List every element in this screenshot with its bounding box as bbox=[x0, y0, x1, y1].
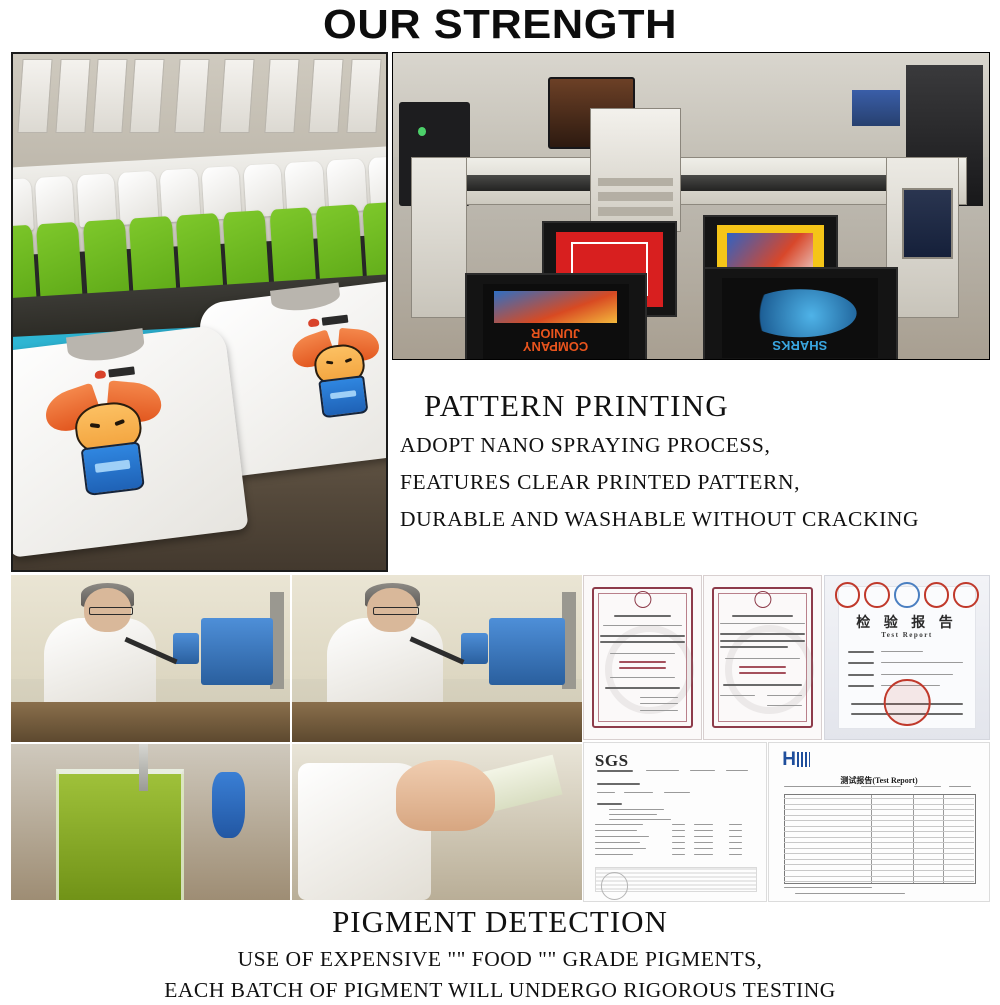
lab-technician-photo bbox=[11, 575, 290, 742]
sharks-print-text: SHARKS bbox=[731, 338, 869, 353]
certification-logos bbox=[835, 584, 979, 605]
lab-bench bbox=[292, 702, 582, 742]
h-test-report: H 测试报告(Test Report) bbox=[768, 742, 990, 902]
pattern-printing-heading: PATTERN PRINTING bbox=[400, 385, 990, 427]
pigment-detection-line-2: EACH BATCH OF PIGMENT WILL UNDERGO RIGOR… bbox=[0, 975, 1000, 1005]
cert-logo-icon-4 bbox=[953, 582, 979, 608]
lab-bench bbox=[11, 702, 290, 742]
glasses-icon bbox=[89, 607, 133, 616]
sgs-test-report: SGS bbox=[583, 742, 767, 902]
test-strip-photo bbox=[292, 744, 582, 900]
lab-equipment bbox=[201, 618, 274, 685]
brand-logo-small bbox=[94, 366, 135, 379]
pattern-printing-line-2: FEATURES CLEAR PRINTED PATTERN, bbox=[400, 464, 990, 501]
cert-logo-icon-2 bbox=[894, 582, 920, 608]
pigment-detection-text-block: PIGMENT DETECTION USE OF EXPENSIVE "" FO… bbox=[0, 900, 1000, 1005]
beaker bbox=[56, 769, 185, 900]
background-equipment bbox=[212, 772, 245, 838]
junior-company-line-1: COMPANY bbox=[491, 340, 620, 353]
hand bbox=[396, 760, 495, 832]
certificate-of-approval bbox=[703, 575, 822, 740]
cert-logo-icon-3 bbox=[924, 582, 950, 608]
pattern-printing-line-3: DURABLE AND WASHABLE WITHOUT CRACKING bbox=[400, 501, 990, 538]
h-report-title: 测试报告(Test Report) bbox=[769, 775, 989, 786]
t-shirt-printing-conveyor-photo bbox=[11, 52, 388, 572]
certificate-chinese bbox=[583, 575, 702, 740]
stirring-rod bbox=[139, 744, 147, 791]
pigment-detection-heading: PIGMENT DETECTION bbox=[0, 900, 1000, 944]
page-title-text: OUR STRENGTH bbox=[323, 1, 677, 48]
brand-logo-small bbox=[308, 315, 349, 328]
bull-mascot-print bbox=[301, 330, 375, 418]
sgs-stamp bbox=[595, 867, 757, 891]
dtg-flatbed-printer-photo: COMPANY JUNIOR SHARKS bbox=[392, 52, 990, 360]
pallet-junior-company-shirt: COMPANY JUNIOR bbox=[465, 273, 648, 360]
pallet-sharks-shirt: SHARKS bbox=[703, 267, 898, 360]
inspection-test-report: 检 验 报 告 Test Report bbox=[824, 575, 990, 740]
bull-mascot-print bbox=[59, 384, 157, 497]
ccc-logo-icon bbox=[835, 582, 861, 608]
print-pallet-front bbox=[11, 324, 248, 558]
report-title-en: Test Report bbox=[825, 631, 989, 639]
glasses-icon bbox=[373, 607, 419, 616]
sgs-results-table bbox=[595, 822, 755, 858]
supply-box bbox=[852, 90, 900, 127]
printer-rail bbox=[429, 175, 953, 190]
report-title-cn: 检 验 报 告 bbox=[825, 612, 989, 632]
cert-logo-icon bbox=[864, 582, 890, 608]
pattern-printing-text-block: PATTERN PRINTING ADOPT NANO SPRAYING PRO… bbox=[400, 385, 990, 538]
official-stamp bbox=[884, 679, 931, 726]
green-pigment-beaker-photo bbox=[11, 744, 290, 900]
junior-company-line-2: JUNIOR bbox=[491, 327, 620, 340]
lab-equipment bbox=[489, 618, 564, 685]
pattern-printing-line-1: ADOPT NANO SPRAYING PROCESS, bbox=[400, 427, 990, 464]
h-logo: H bbox=[782, 749, 796, 771]
sgs-logo: SGS bbox=[595, 751, 629, 771]
printer-control-panel bbox=[902, 188, 954, 259]
pigment-detection-line-1: USE OF EXPENSIVE "" FOOD "" GRADE PIGMEN… bbox=[0, 944, 1000, 975]
print-head-carriage bbox=[590, 108, 681, 232]
our-strength-page: OUR STRENGTH bbox=[0, 0, 1000, 1000]
page-title: OUR STRENGTH bbox=[0, 0, 1000, 48]
lab-technician-photo-2 bbox=[292, 575, 582, 742]
printer-frame-left bbox=[411, 157, 467, 318]
